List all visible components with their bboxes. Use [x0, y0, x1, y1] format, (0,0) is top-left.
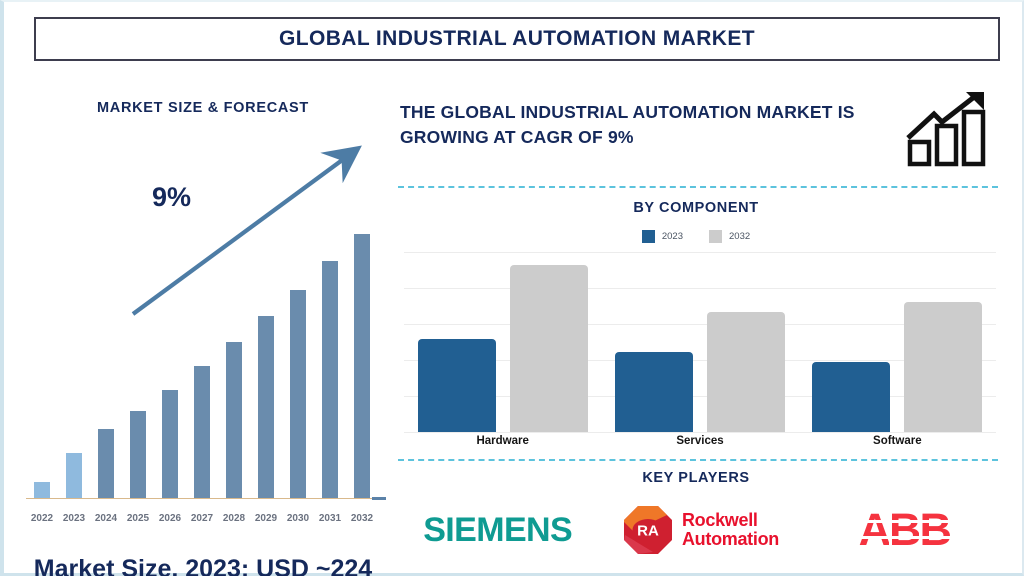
market-size-bar [322, 208, 339, 498]
rockwell-logo-line2: Automation [682, 530, 779, 549]
market-size-bar [258, 208, 275, 498]
abb-logo-text: ABB [859, 504, 951, 555]
by-component-category-labels: HardwareServicesSoftware [404, 435, 996, 447]
bar-2025 [130, 411, 147, 498]
bar-hardware-2032 [510, 265, 588, 432]
growth-headline: THE GLOBAL INDUSTRIAL AUTOMATION MARKET … [400, 100, 870, 150]
page-title: GLOBAL INDUSTRIAL AUTOMATION MARKET [279, 27, 755, 51]
category-label-hardware: Hardware [404, 435, 601, 447]
divider-bottom [398, 459, 998, 461]
bar-software-2023 [812, 362, 890, 432]
category-label-software: Software [799, 435, 996, 447]
year-tick-2029: 2029 [250, 513, 282, 524]
year-tick-2022: 2022 [26, 513, 58, 524]
bar-services-2023 [615, 352, 693, 432]
year-tick-2030: 2030 [282, 513, 314, 524]
by-component-legend: 20232032 [396, 230, 996, 243]
market-size-forecast-panel: MARKET SIZE & FORECAST 9% 20222023202420… [12, 82, 394, 570]
divider-top [398, 186, 998, 188]
market-size-forecast-chart: 2022202320242025202620272028202920302031… [26, 202, 386, 532]
legend-label-2032: 2032 [729, 231, 750, 242]
market-size-bar [66, 208, 83, 498]
right-panel: THE GLOBAL INDUSTRIAL AUTOMATION MARKET … [396, 82, 1014, 572]
key-players-logos: SIEMENS RA Rockwell Automation ABB [396, 494, 1006, 566]
bar-2032 [354, 234, 371, 498]
bar-2027 [194, 366, 211, 498]
year-axis-labels: 2022202320242025202620272028202920302031… [26, 513, 386, 524]
bar-2030 [290, 290, 307, 498]
page-title-box: GLOBAL INDUSTRIAL AUTOMATION MARKET [34, 17, 1000, 61]
market-size-forecast-heading: MARKET SIZE & FORECAST [12, 100, 394, 116]
bar-2022 [34, 482, 51, 498]
by-component-bar-groups [404, 252, 996, 432]
market-size-bars [26, 208, 386, 498]
market-size-bar [226, 208, 243, 498]
legend-item-2023[interactable]: 2023 [642, 230, 683, 243]
by-component-chart [404, 252, 996, 432]
legend-swatch-2023 [642, 230, 655, 243]
chart-baseline [26, 498, 378, 500]
market-size-bar [354, 208, 371, 498]
market-size-bar [130, 208, 147, 498]
bar-chart-growth-arrow-icon [904, 90, 1000, 168]
bar-group-software [799, 252, 996, 432]
year-tick-2025: 2025 [122, 513, 154, 524]
bar-group-hardware [404, 252, 601, 432]
legend-label-2023: 2023 [662, 231, 683, 242]
by-component-title: BY COMPONENT [396, 200, 996, 216]
market-size-bar [290, 208, 307, 498]
siemens-logo-text: SIEMENS [423, 511, 572, 550]
rockwell-ra-badge-icon: RA [623, 505, 673, 555]
bar-software-2032 [904, 302, 982, 432]
year-tick-2023: 2023 [58, 513, 90, 524]
rockwell-logo-line1: Rockwell [682, 511, 779, 530]
logo-abb: ABB [803, 504, 1006, 556]
bar-group-services [601, 252, 798, 432]
category-label-services: Services [601, 435, 798, 447]
gridline [404, 432, 996, 433]
market-size-bar [162, 208, 179, 498]
year-tick-2028: 2028 [218, 513, 250, 524]
logo-rockwell-automation: RA Rockwell Automation [599, 505, 802, 555]
legend-item-2032[interactable]: 2032 [709, 230, 750, 243]
market-size-value: Market Size, 2023: USD ~224 Billion [16, 554, 390, 576]
forecast-dash-icon [372, 497, 386, 500]
year-tick-2032: 2032 [346, 513, 378, 524]
key-players-title: KEY PLAYERS [396, 470, 996, 486]
bar-2024 [98, 429, 115, 498]
market-size-bar [98, 208, 115, 498]
year-tick-2027: 2027 [186, 513, 218, 524]
bar-2028 [226, 342, 243, 498]
year-tick-2031: 2031 [314, 513, 346, 524]
bar-services-2032 [707, 312, 785, 432]
bar-2031 [322, 261, 339, 498]
year-tick-2026: 2026 [154, 513, 186, 524]
bar-2029 [258, 316, 275, 498]
logo-siemens: SIEMENS [396, 511, 599, 550]
legend-swatch-2032 [709, 230, 722, 243]
infographic-page: GLOBAL INDUSTRIAL AUTOMATION MARKET MARK… [0, 0, 1024, 576]
bar-hardware-2023 [418, 339, 496, 432]
svg-text:RA: RA [637, 523, 659, 540]
bar-2026 [162, 390, 179, 498]
market-size-bar [194, 208, 211, 498]
year-tick-2024: 2024 [90, 513, 122, 524]
market-size-bar [34, 208, 51, 498]
bar-2023 [66, 453, 83, 498]
